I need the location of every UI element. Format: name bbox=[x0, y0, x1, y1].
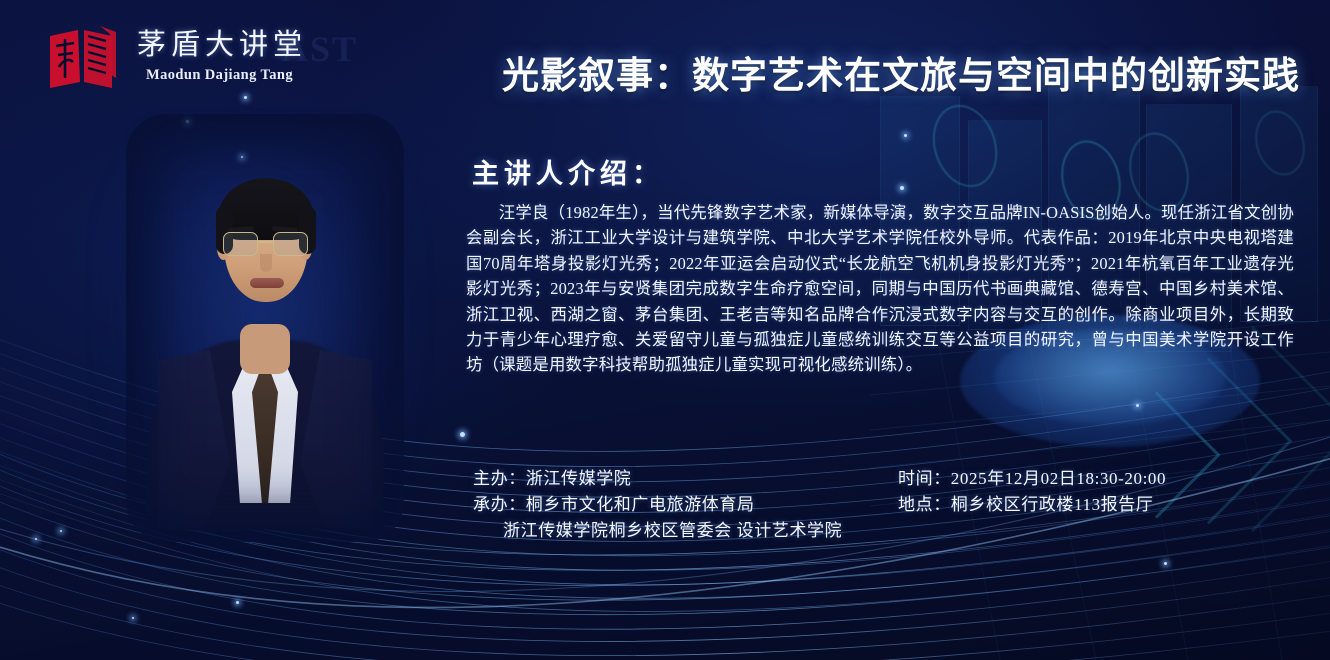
bg-ring bbox=[1248, 105, 1312, 182]
speaker-portrait bbox=[140, 128, 390, 528]
bg-particle bbox=[460, 432, 465, 437]
bg-particle bbox=[904, 134, 907, 137]
bg-particle bbox=[236, 601, 239, 604]
bg-particle bbox=[1136, 404, 1139, 407]
event-details-block: 时间：2025年12月02日18:30-20:00 地点：桐乡校区行政楼113报… bbox=[898, 466, 1166, 518]
speaker-bio: 汪学良（1982年生），当代先锋数字艺术家，新媒体导演，数字交互品牌IN-OAS… bbox=[466, 200, 1294, 378]
bg-particle bbox=[1164, 562, 1167, 565]
co-organizer-line-2: 浙江传媒学院桐乡校区管委会 设计艺术学院 bbox=[473, 518, 842, 544]
organizer-block: 主办：浙江传媒学院 承办：桐乡市文化和广电旅游体育局 浙江传媒学院桐乡校区管委会… bbox=[473, 466, 842, 544]
bg-particle bbox=[60, 530, 62, 532]
organizer-line: 主办：浙江传媒学院 bbox=[473, 466, 842, 492]
bg-particle bbox=[900, 186, 904, 190]
co-organizer-line: 承办：桐乡市文化和广电旅游体育局 bbox=[473, 492, 842, 518]
bg-ring bbox=[923, 96, 1008, 195]
poster-canvas: AST 茅盾大讲堂 Maodun Dajiang Tang 光 bbox=[0, 0, 1330, 660]
speaker-section-heading: 主讲人介绍： bbox=[472, 152, 664, 191]
speaker-bio-text: 汪学良（1982年生），当代先锋数字艺术家，新媒体导演，数字交互品牌IN-OAS… bbox=[466, 200, 1294, 378]
bg-particle bbox=[132, 617, 134, 619]
event-time: 时间：2025年12月02日18:30-20:00 bbox=[898, 466, 1166, 492]
bg-particle bbox=[35, 538, 37, 540]
event-location: 地点：桐乡校区行政楼113报告厅 bbox=[898, 492, 1166, 518]
page-title: 光影叙事：数字艺术在文旅与空间中的创新实践 bbox=[0, 45, 1300, 99]
